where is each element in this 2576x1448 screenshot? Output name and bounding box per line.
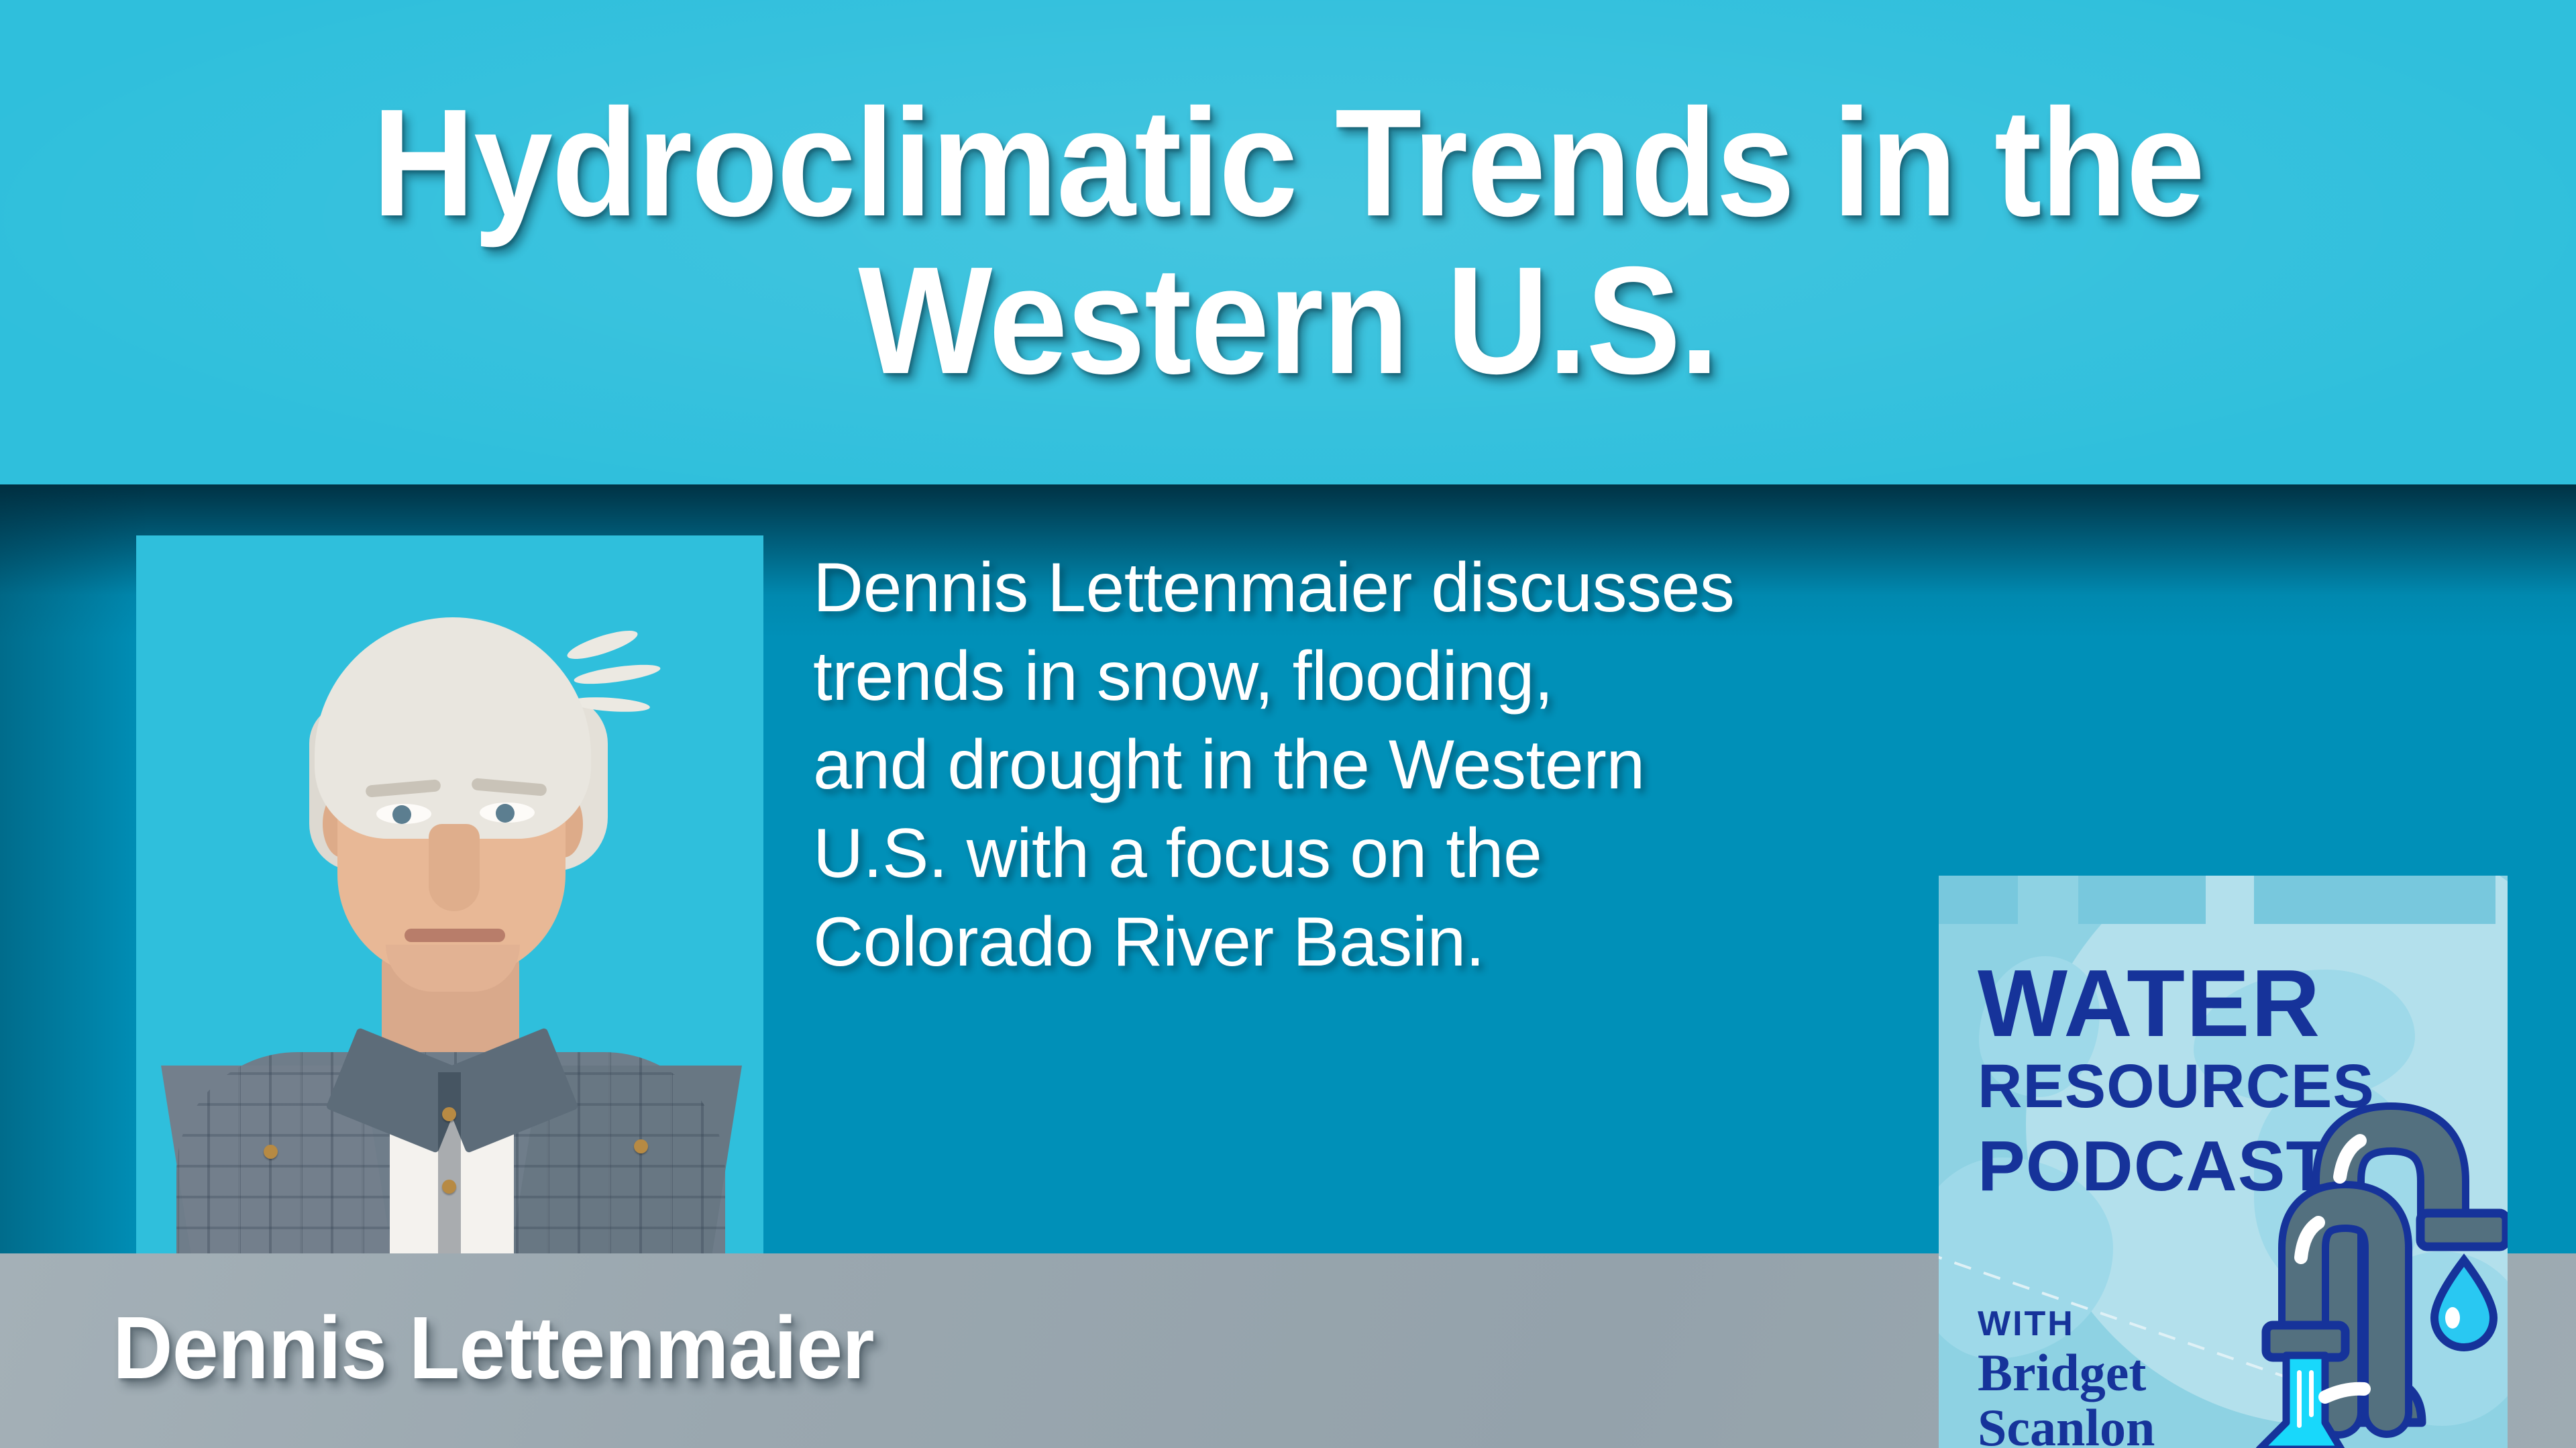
portrait-iris-right <box>496 804 515 823</box>
description-line: U.S. with a focus on the <box>813 809 1886 898</box>
logo-top-block <box>2254 876 2495 924</box>
portrait-nose <box>429 824 480 911</box>
portrait-hair <box>315 617 591 839</box>
episode-title-line-2: Western U.S. <box>858 248 1718 394</box>
podcast-logo: WATER RESOURCES PODCAST WITH Bridget Sca… <box>1939 876 2508 1448</box>
portrait-shirt-placket <box>438 1072 461 1253</box>
logo-top-block <box>1939 876 2018 924</box>
episode-description: Dennis Lettenmaier discusses trends in s… <box>813 544 1886 986</box>
description-line: Dennis Lettenmaier discusses <box>813 544 1886 632</box>
guest-portrait <box>136 535 763 1253</box>
description-line: Colorado River Basin. <box>813 898 1886 986</box>
logo-with-label: WITH <box>1978 1304 2075 1344</box>
episode-title-line-1: Hydroclimatic Trends in the <box>372 91 2204 236</box>
description-line: trends in snow, flooding, <box>813 632 1886 721</box>
body-left-shadow <box>0 484 148 1253</box>
portrait-hair-wisp <box>573 661 661 688</box>
portrait-iris-left <box>392 805 411 824</box>
portrait-mouth <box>405 929 505 942</box>
portrait-shirt-button <box>634 1139 648 1153</box>
episode-card: Hydroclimatic Trends in the Western U.S. <box>0 0 2576 1448</box>
logo-top-block <box>2078 876 2206 924</box>
portrait-hair-wisp <box>565 625 641 665</box>
logo-host-name: Bridget Scanlon <box>1978 1345 2155 1448</box>
description-line: and drought in the Western <box>813 721 1886 809</box>
portrait-shirt-button <box>442 1107 456 1121</box>
portrait-shirt-button <box>264 1145 278 1159</box>
portrait-shirt-button <box>442 1180 456 1194</box>
guest-name: Dennis Lettenmaier <box>113 1304 874 1392</box>
faucet-icon <box>2207 1047 2508 1448</box>
logo-word-water: WATER <box>1978 956 2321 1051</box>
title-band: Hydroclimatic Trends in the Western U.S. <box>0 0 2576 484</box>
water-droplet-icon <box>2434 1260 2493 1347</box>
guest-portrait-image <box>136 535 763 1253</box>
